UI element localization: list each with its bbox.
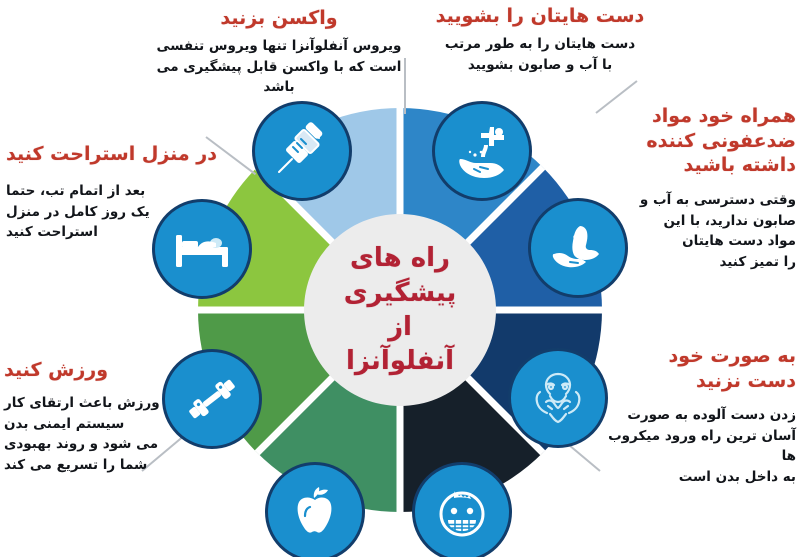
tip-body-dont-touch-face: زدن دست آلوده به صورتآسان ترین راه ورود …: [604, 405, 796, 487]
icon-bubble-oral-hygiene[interactable]: [412, 462, 512, 557]
apple-icon: [283, 480, 347, 544]
tip-text-sanitizer: همراه خود موادضدعفونی کنندهداشته باشید و…: [608, 104, 796, 272]
tip-heading-dont-touch-face: به صورت خوددست نزنید: [604, 344, 796, 393]
tip-body-exercise: ورزش باعث ارتقای کارسیستم ایمنی بدنمی شو…: [4, 393, 190, 475]
influenza-prevention-infographic: راه های پیشگیری از آنفلوآنزا: [0, 0, 800, 557]
center-title-disc: راه های پیشگیری از آنفلوآنزا: [304, 214, 496, 406]
tip-text-exercise: ورزش کنید ورزش باعث ارتقای کارسیستم ایمن…: [4, 358, 190, 476]
icon-bubble-vaccine[interactable]: [252, 101, 352, 201]
tip-text-wash-hands: دست هایتان را بشویید دست هایتان را به طو…: [404, 4, 676, 75]
tip-text-rest-at-home: در منزل استراحت کنید بعد از اتمام تب، حت…: [6, 142, 234, 243]
icon-bubble-healthy-food[interactable]: [265, 462, 365, 557]
smiling-face-icon: [430, 480, 494, 544]
center-title-line-1: راه های: [350, 241, 450, 275]
tip-heading-exercise: ورزش کنید: [4, 358, 190, 383]
center-title-line-2: پیشگیری: [344, 276, 457, 310]
icon-bubble-wash-hands[interactable]: [432, 101, 532, 201]
tip-heading-wash-hands: دست هایتان را بشویید: [404, 4, 676, 29]
tip-text-dont-touch-face: به صورت خوددست نزنید زدن دست آلوده به صو…: [604, 344, 796, 487]
tip-body-rest-at-home: بعد از اتمام تب، حتمایک روز کامل در منزل…: [6, 181, 234, 243]
covering-face-icon: [526, 366, 590, 430]
tip-body-vaccine: ویروس آنفلوآنزا تنها ویروس تنفسیاست که ب…: [148, 36, 410, 98]
icon-bubble-dont-touch-face[interactable]: [508, 348, 608, 448]
faucet-handwash-icon: [450, 119, 514, 183]
hand-sanitizer-icon: [546, 216, 610, 280]
tip-text-vaccine: واکسن بزنید ویروس آنفلوآنزا تنها ویروس ت…: [148, 6, 410, 98]
syringe-icon: [270, 119, 334, 183]
center-title-line-3: از: [388, 310, 412, 344]
tip-body-wash-hands: دست هایتان را به طور مرتببا آب و صابون ب…: [404, 34, 676, 75]
tip-heading-sanitizer: همراه خود موادضدعفونی کنندهداشته باشید: [608, 104, 796, 178]
tip-heading-vaccine: واکسن بزنید: [148, 6, 410, 31]
tip-body-sanitizer: وقتی دسترسی به آب وصابون ندارید، با اینم…: [608, 190, 796, 272]
tip-heading-rest-at-home: در منزل استراحت کنید: [6, 142, 234, 167]
center-title-line-4: آنفلوآنزا: [346, 344, 454, 378]
